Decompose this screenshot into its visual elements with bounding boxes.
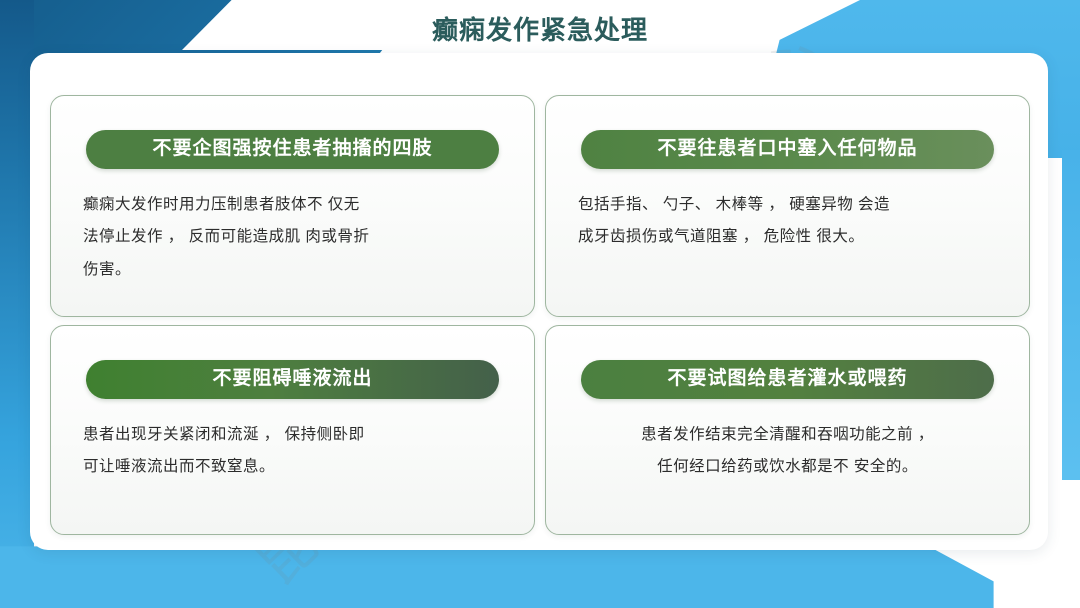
cards-grid: 不要企图强按住患者抽搐的四肢 癫痫大发作时用力压制患者肢体不 仅无 法停止发作 … <box>50 95 1030 535</box>
card-badge: 不要试图给患者灌水或喂药 <box>581 360 995 399</box>
card-saliva-flow: 不要阻碍唾液流出 患者出现牙关紧闭和流涎 ， 保持侧卧即 可让唾液流出而不致窒息… <box>50 325 535 535</box>
card-body-line: 成牙齿损伤或气道阻塞 ， 危险性 很大。 <box>578 221 1003 254</box>
card-body-line: 伤害。 <box>83 254 508 287</box>
card-body: 患者出现牙关紧闭和流涎 ， 保持侧卧即 可让唾液流出而不致窒息。 <box>77 419 508 484</box>
decor-left-strip <box>0 0 34 608</box>
card-body-line: 可让唾液流出而不致窒息。 <box>83 451 508 484</box>
slide-canvas: 癫痫发作紧急处理 不要企图强按住患者抽搐的四肢 癫痫大发作时用力压制患者肢体不 … <box>0 0 1080 608</box>
card-body: 包括手指、 勺子、 木棒等 ， 硬塞异物 会造 成牙齿损伤或气道阻塞 ， 危险性… <box>572 189 1003 254</box>
card-body-line: 包括手指、 勺子、 木棒等 ， 硬塞异物 会造 <box>578 189 1003 222</box>
card-restrain-limbs: 不要企图强按住患者抽搐的四肢 癫痫大发作时用力压制患者肢体不 仅无 法停止发作 … <box>50 95 535 317</box>
page-title: 癫痫发作紧急处理 <box>0 10 1080 47</box>
card-mouth-objects: 不要往患者口中塞入任何物品 包括手指、 勺子、 木棒等 ， 硬塞异物 会造 成牙… <box>545 95 1030 317</box>
card-body-line: 癫痫大发作时用力压制患者肢体不 仅无 <box>83 189 508 222</box>
card-body-line: 患者发作结束完全清醒和吞咽功能之前 ， <box>572 419 1003 452</box>
card-body-line: 任何经口给药或饮水都是不 安全的。 <box>572 451 1003 484</box>
card-no-water-medicine: 不要试图给患者灌水或喂药 患者发作结束完全清醒和吞咽功能之前 ， 任何经口给药或… <box>545 325 1030 535</box>
card-badge: 不要企图强按住患者抽搐的四肢 <box>86 130 500 169</box>
card-body-line: 法停止发作 ， 反而可能造成肌 肉或骨折 <box>83 221 508 254</box>
card-body-line: 患者出现牙关紧闭和流涎 ， 保持侧卧即 <box>83 419 508 452</box>
card-body: 患者发作结束完全清醒和吞咽功能之前 ， 任何经口给药或饮水都是不 安全的。 <box>572 419 1003 484</box>
decor-right-strip <box>1062 150 1080 480</box>
card-body: 癫痫大发作时用力压制患者肢体不 仅无 法停止发作 ， 反而可能造成肌 肉或骨折 … <box>77 189 508 287</box>
card-badge: 不要阻碍唾液流出 <box>86 360 500 399</box>
card-badge: 不要往患者口中塞入任何物品 <box>581 130 995 169</box>
